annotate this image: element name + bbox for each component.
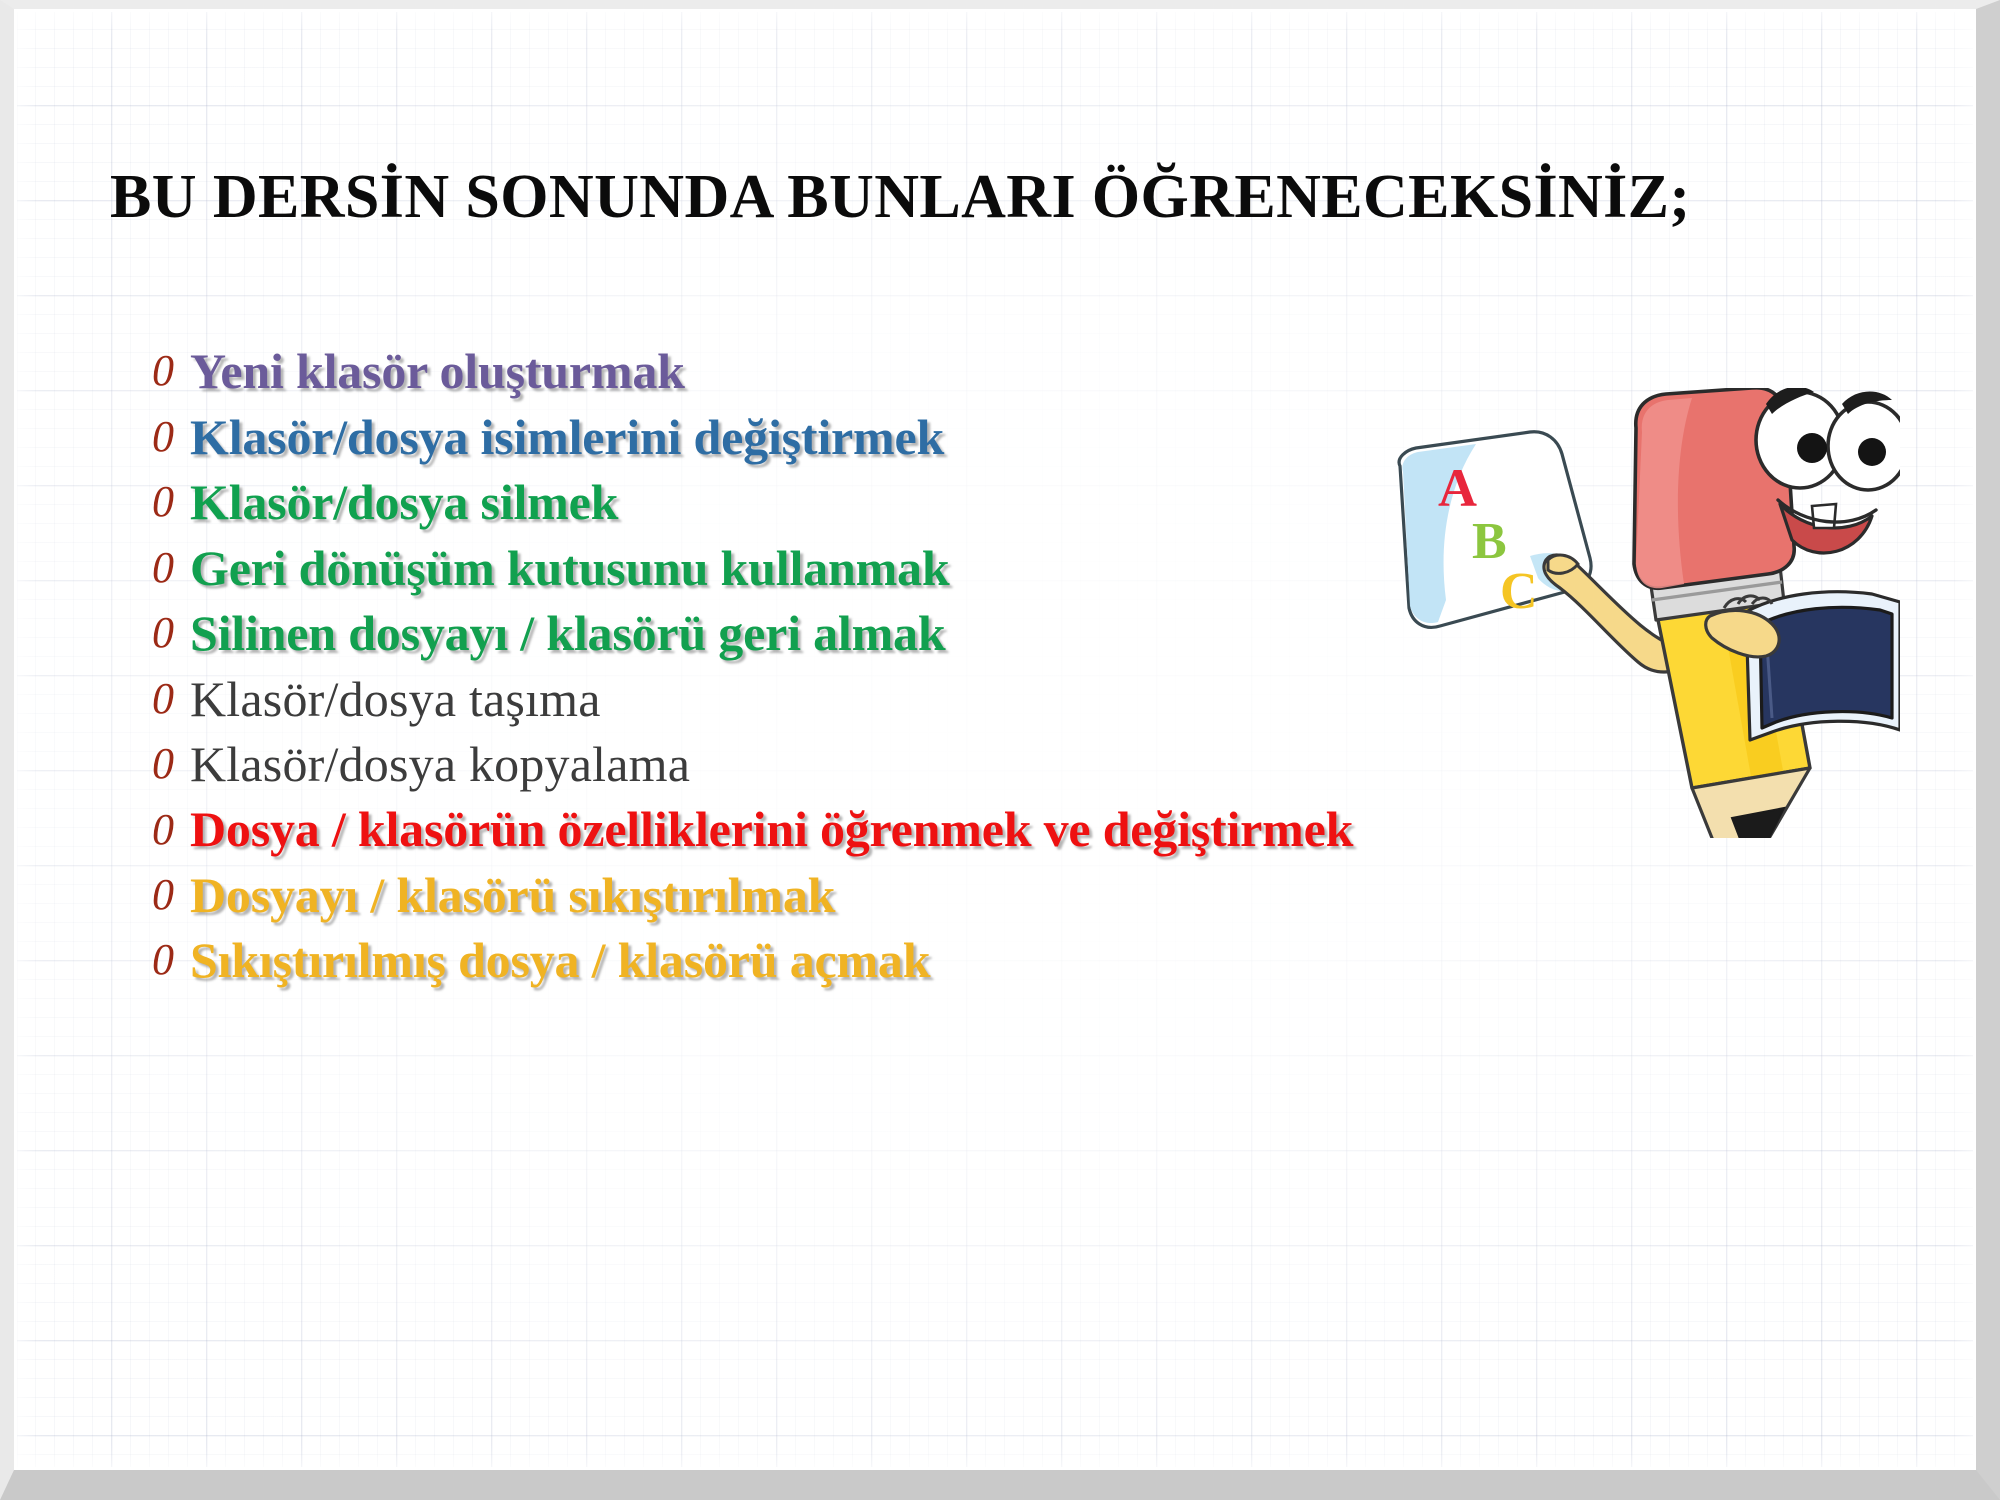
book-icon xyxy=(1746,592,1900,740)
bullet-marker-icon: 0 xyxy=(152,799,190,861)
list-item-label: Yeni klasör oluşturmak xyxy=(190,340,1572,403)
page-title: BU DERSİN SONUNDA BUNLARI ÖĞRENECEKSİNİZ… xyxy=(110,166,1910,228)
list-item[interactable]: 0 Sıkıştırılmış dosya / klasörü açmak xyxy=(152,929,1572,992)
slide-content: BU DERSİN SONUNDA BUNLARI ÖĞRENECEKSİNİZ… xyxy=(0,0,2000,1500)
slide-canvas: BU DERSİN SONUNDA BUNLARI ÖĞRENECEKSİNİZ… xyxy=(0,0,2000,1500)
list-item-label: Dosya / klasörün özelliklerini öğrenmek … xyxy=(190,799,1530,860)
list-item[interactable]: 0 Klasör/dosya kopyalama xyxy=(152,733,1572,796)
bullet-marker-icon: 0 xyxy=(152,471,190,533)
bullet-marker-icon: 0 xyxy=(152,733,190,795)
letter-a: A xyxy=(1438,458,1477,518)
list-item-label: Sıkıştırılmış dosya / klasörü açmak xyxy=(190,929,1572,992)
list-item-label: Klasör/dosya isimlerini değiştirmek xyxy=(190,406,1572,469)
bullet-marker-icon: 0 xyxy=(152,668,190,730)
bullet-marker-icon: 0 xyxy=(152,929,190,991)
abc-paper-icon: A B C xyxy=(1399,432,1591,628)
letter-c: C xyxy=(1500,563,1538,620)
list-item[interactable]: 0 Klasör/dosya silmek xyxy=(152,471,1572,534)
list-item-label: Klasör/dosya kopyalama xyxy=(190,733,1572,796)
bullet-marker-icon: 0 xyxy=(152,537,190,599)
list-item-label: Dosyayı / klasörü sıkıştırılmak xyxy=(190,864,1572,927)
list-item[interactable]: 0 Silinen dosyayı / klasörü geri almak xyxy=(152,602,1572,665)
mascot-eyes-icon xyxy=(1756,388,1900,490)
list-item-label: Klasör/dosya silmek xyxy=(190,471,1572,534)
list-item-label: Geri dönüşüm kutusunu kullanmak xyxy=(190,537,1572,600)
letter-b: B xyxy=(1472,513,1507,570)
bullet-marker-icon: 0 xyxy=(152,602,190,664)
bullet-marker-icon: 0 xyxy=(152,864,190,926)
list-item[interactable]: 0 Yeni klasör oluşturmak xyxy=(152,340,1572,403)
bullet-marker-icon: 0 xyxy=(152,406,190,468)
list-item[interactable]: 0 Dosya / klasörün özelliklerini öğrenme… xyxy=(152,799,1572,861)
list-item-label: Klasör/dosya taşıma xyxy=(190,668,1572,731)
pencil-mascot-illustration: A B C xyxy=(1380,388,1900,838)
list-item[interactable]: 0 Klasör/dosya taşıma xyxy=(152,668,1572,731)
list-item[interactable]: 0 Dosyayı / klasörü sıkıştırılmak xyxy=(152,864,1572,927)
list-item-label: Silinen dosyayı / klasörü geri almak xyxy=(190,602,1572,665)
list-item[interactable]: 0 Klasör/dosya isimlerini değiştirmek xyxy=(152,406,1572,469)
bullet-marker-icon: 0 xyxy=(152,340,190,402)
list-item[interactable]: 0 Geri dönüşüm kutusunu kullanmak xyxy=(152,537,1572,600)
objectives-list: 0 Yeni klasör oluşturmak 0 Klasör/dosya … xyxy=(152,340,1572,995)
